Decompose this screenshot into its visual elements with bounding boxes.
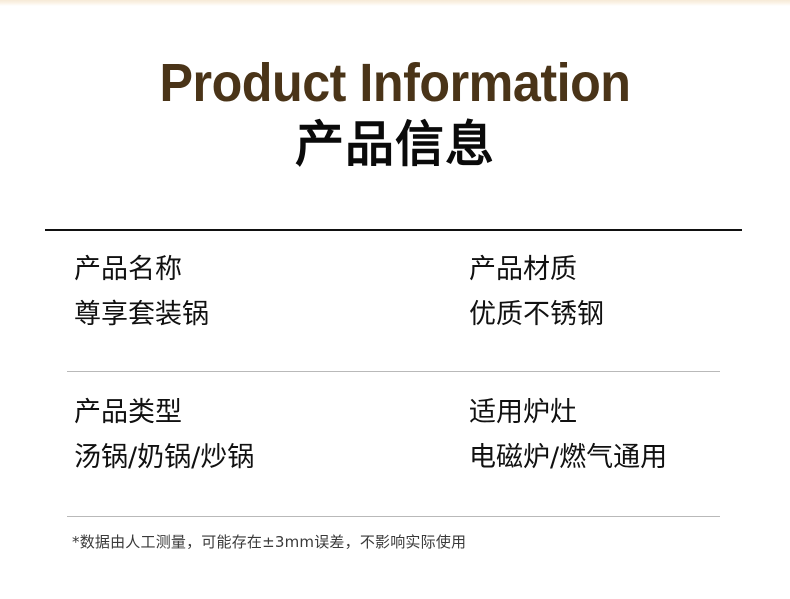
spec-label: 产品材质 [469, 252, 790, 288]
divider-bottom [67, 516, 720, 517]
product-information-panel: Product Information 产品信息 产品名称 尊享套装锅 产品材质… [0, 0, 790, 599]
spec-value: 汤锅/奶锅/炒锅 [74, 440, 395, 476]
spec-value: 电磁炉/燃气通用 [469, 440, 790, 476]
spec-label: 适用炉灶 [469, 395, 790, 431]
spec-cell-product-type: 产品类型 汤锅/奶锅/炒锅 [0, 395, 395, 475]
spec-row: 产品类型 汤锅/奶锅/炒锅 适用炉灶 电磁炉/燃气通用 [0, 395, 790, 475]
spec-label: 产品名称 [74, 252, 395, 288]
top-accent-strip [0, 0, 790, 6]
spec-value: 优质不锈钢 [469, 297, 790, 333]
page-heading: Product Information 产品信息 [0, 56, 790, 173]
measurement-disclaimer: *数据由人工测量，可能存在±3mm误差，不影响实际使用 [72, 531, 466, 552]
spec-row: 产品名称 尊享套装锅 产品材质 优质不锈钢 [0, 252, 790, 332]
page-title-chinese: 产品信息 [0, 118, 790, 173]
spec-value: 尊享套装锅 [74, 297, 395, 333]
divider-top [45, 229, 742, 231]
spec-cell-product-material: 产品材质 优质不锈钢 [395, 252, 790, 332]
spec-cell-product-name: 产品名称 尊享套装锅 [0, 252, 395, 332]
divider-middle [67, 371, 720, 372]
page-title-english: Product Information [28, 56, 763, 110]
spec-label: 产品类型 [74, 395, 395, 431]
spec-cell-compatible-stove: 适用炉灶 电磁炉/燃气通用 [395, 395, 790, 475]
